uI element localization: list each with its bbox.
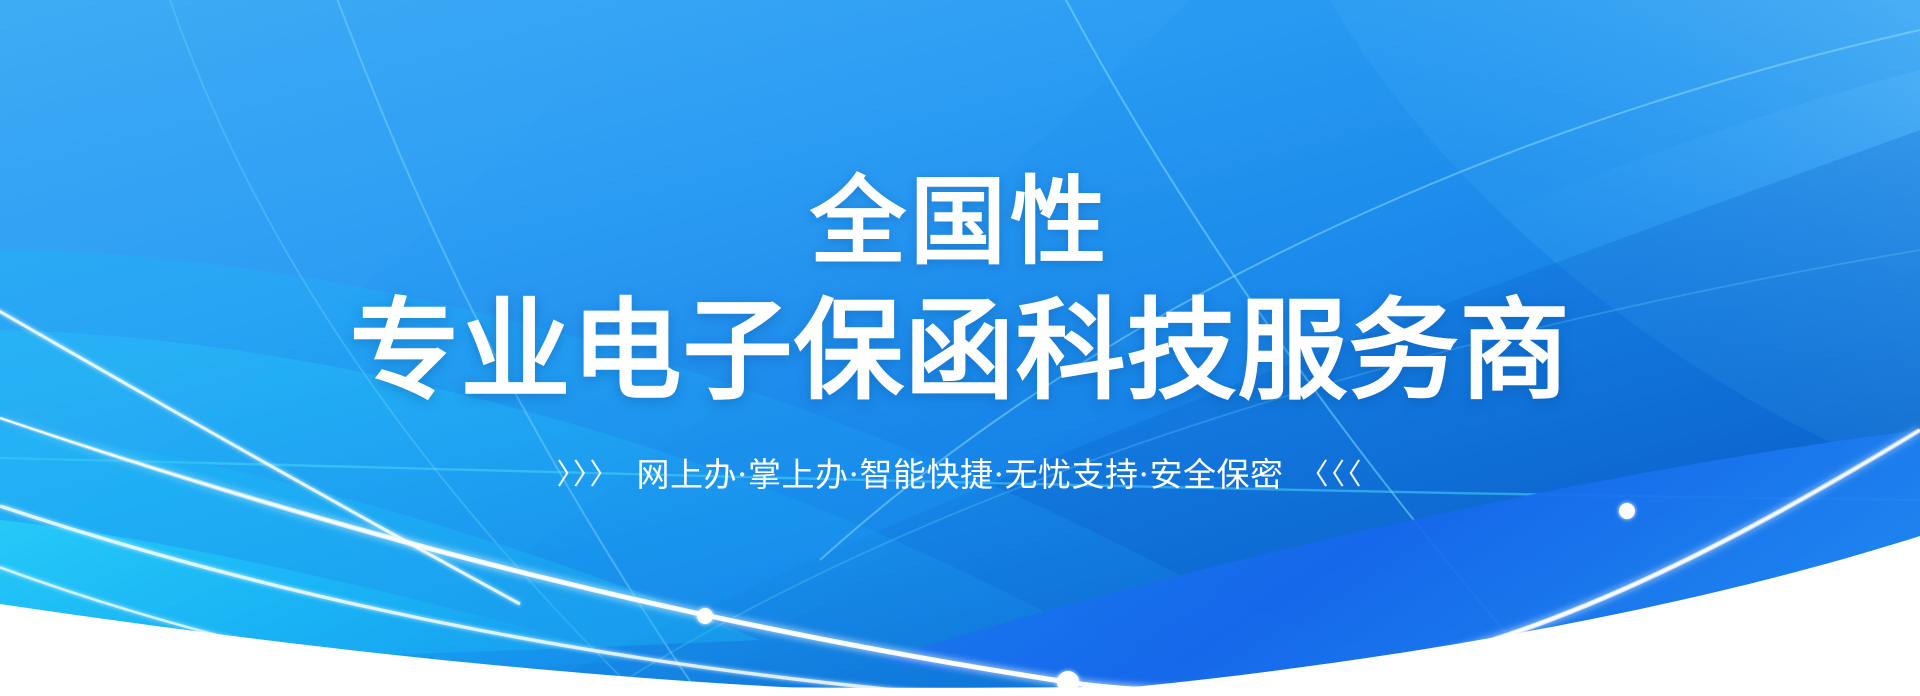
subtitle-text: 网上办·掌上办·智能快捷·无忧支持·安全保密	[637, 448, 1284, 496]
chevron-left-icon: 〉〉〉	[557, 451, 621, 493]
chevron-right-icon: 〈〈〈	[1299, 451, 1363, 493]
banner-subtitle: 〉〉〉 网上办·掌上办·智能快捷·无忧支持·安全保密 〈〈〈	[0, 448, 1920, 496]
banner-content: 全国性 专业电子保函科技服务商 〉〉〉 网上办·掌上办·智能快捷·无忧支持·安全…	[0, 0, 1920, 696]
headline-primary: 全国性	[0, 172, 1920, 273]
headline-secondary: 专业电子保函科技服务商	[0, 292, 1920, 411]
hero-banner: 全国性 专业电子保函科技服务商 〉〉〉 网上办·掌上办·智能快捷·无忧支持·安全…	[0, 0, 1920, 696]
